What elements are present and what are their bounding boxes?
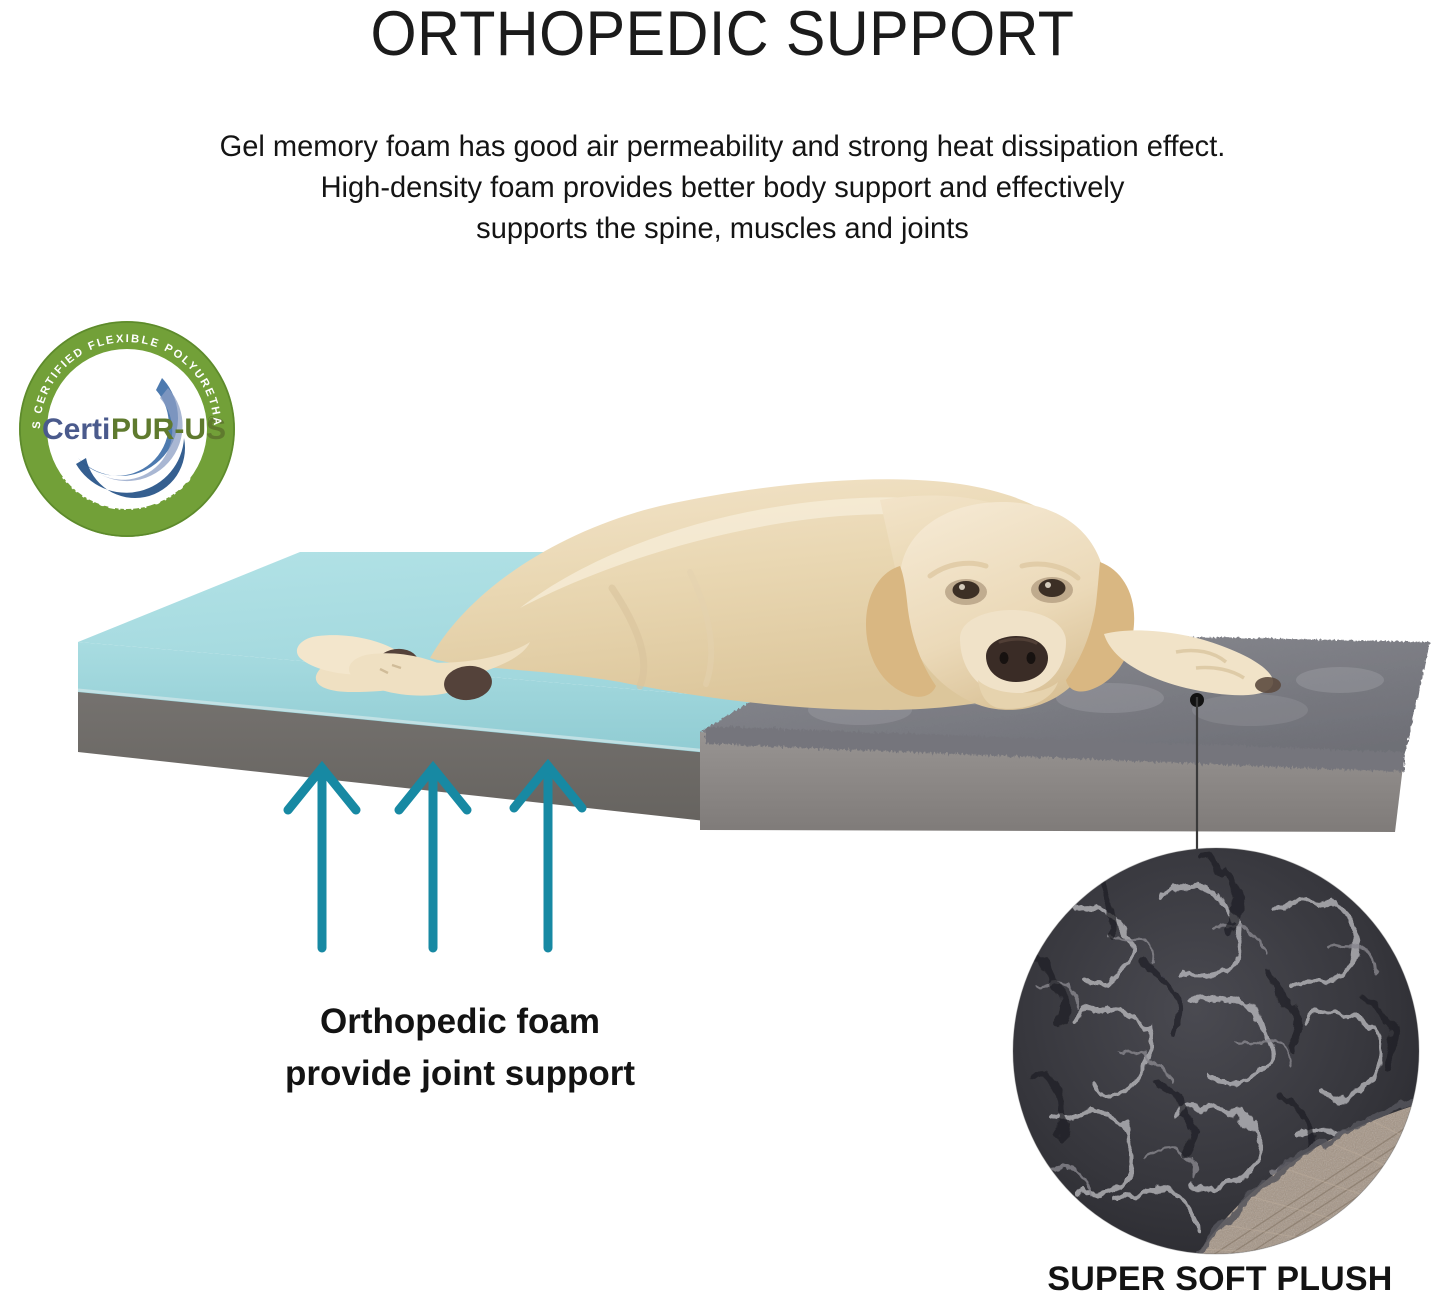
support-arrows [280,752,610,962]
description-paragraph: Gel memory foam has good air permeabilit… [129,126,1316,249]
support-arrow-3 [514,766,582,948]
plush-detail-circle [1010,845,1422,1257]
dog-nose [986,636,1048,682]
description-line-1: Gel memory foam has good air permeabilit… [129,126,1316,167]
plush-texture-fill [1010,845,1422,1257]
foam-caption-line-2: provide joint support [180,1048,740,1100]
support-arrow-2 [399,768,467,948]
description-line-3: supports the spine, muscles and joints [129,208,1316,249]
dog-bed-illustration [0,380,1445,860]
foam-caption-line-1: Orthopedic foam [180,996,740,1048]
plush-callout-leader-line [1189,697,1205,857]
plush-caption: SUPER SOFT PLUSH [1000,1258,1440,1300]
infographic-page: ORTHOPEDIC SUPPORT Gel memory foam has g… [0,0,1445,1303]
page-title: ORTHOPEDIC SUPPORT [43,2,1401,66]
description-line-2: High-density foam provides better body s… [129,167,1316,208]
support-arrow-1 [288,768,356,948]
orthopedic-foam-caption: Orthopedic foam provide joint support [180,996,740,1100]
